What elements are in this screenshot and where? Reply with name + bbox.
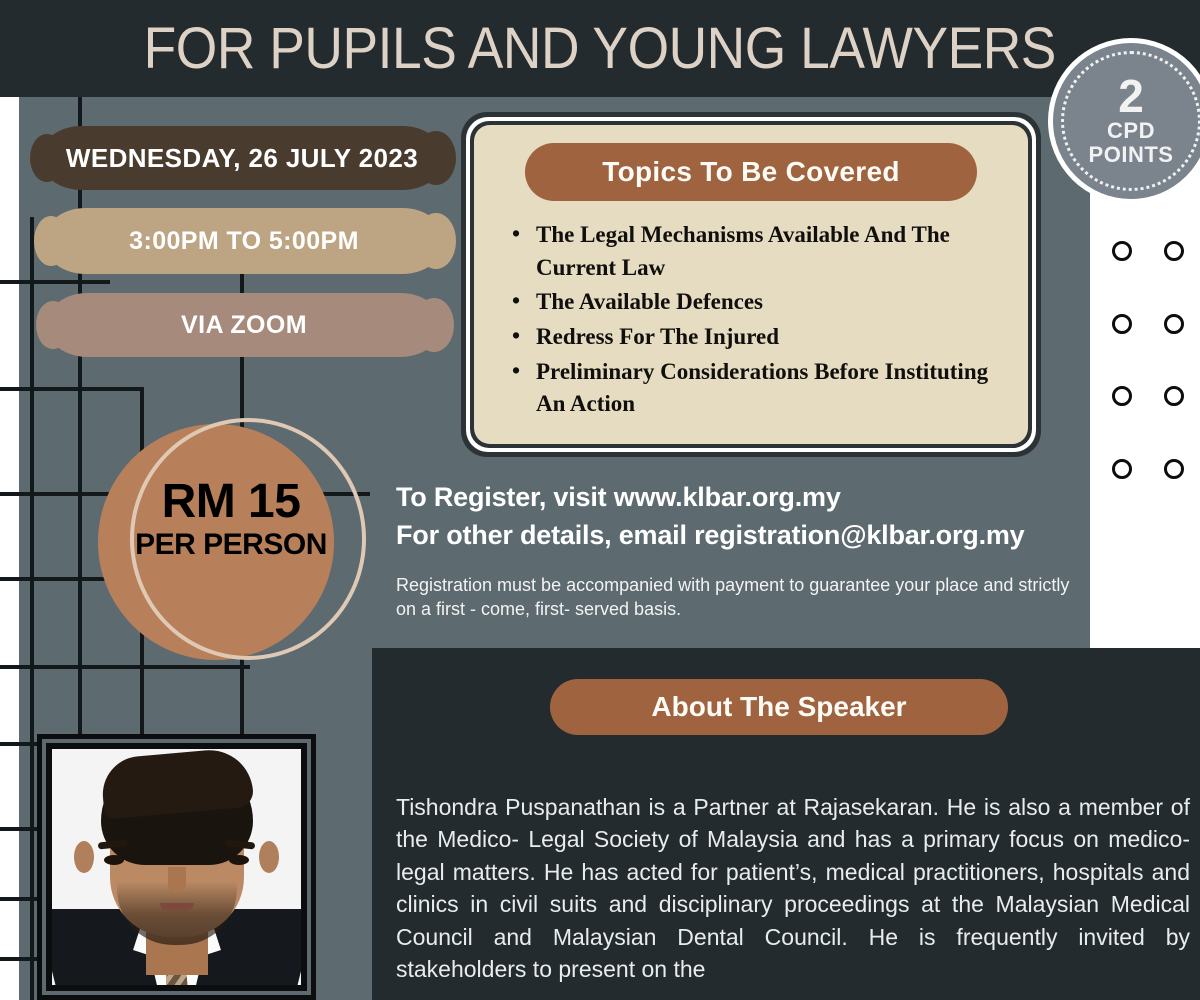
speaker-portrait-photo xyxy=(52,749,301,985)
price-amount: RM 15 xyxy=(116,478,346,526)
topics-heading: Topics To Be Covered xyxy=(525,143,977,201)
poster-header: FOR PUPILS AND YOUNG LAWYERS xyxy=(0,0,1200,97)
event-time-text: 3:00PM TO 5:00PM xyxy=(129,227,359,256)
cpd-label-line1: CPD xyxy=(1107,119,1155,143)
circle-dot-icon xyxy=(1112,459,1132,479)
cpd-label-line2: POINTS xyxy=(1089,143,1174,167)
topics-list: The Legal Mechanisms Available And The C… xyxy=(512,219,1008,421)
left-white-strip xyxy=(0,97,19,1000)
speaker-panel: About The Speaker Tishondra Puspanathan … xyxy=(372,648,1200,1000)
circle-dot-icon xyxy=(1112,314,1132,334)
topics-box-inner-dark: Topics To Be Covered The Legal Mechanism… xyxy=(470,121,1032,448)
cpd-points-badge: 2 CPD POINTS xyxy=(1053,43,1200,199)
poster-canvas: FOR PUPILS AND YOUNG LAWYERS 2 CPD POINT… xyxy=(0,0,1200,1000)
event-time-bar: 3:00PM TO 5:00PM xyxy=(46,208,442,274)
event-platform-text: VIA ZOOM xyxy=(181,311,307,340)
circle-dot-icon xyxy=(1164,241,1184,261)
price-text-group: RM 15 PER PERSON xyxy=(116,478,346,560)
topics-box-inner-white: Topics To Be Covered The Legal Mechanism… xyxy=(466,117,1036,452)
registration-note: Registration must be accompanied with pa… xyxy=(396,573,1086,623)
registration-website-line[interactable]: To Register, visit www.klbar.org.my xyxy=(396,478,1086,516)
list-item: Redress For The Injured xyxy=(512,321,1008,354)
event-date-bar: WEDNESDAY, 26 JULY 2023 xyxy=(42,126,442,190)
circle-dot-icon xyxy=(1112,241,1132,261)
event-date-text: WEDNESDAY, 26 JULY 2023 xyxy=(66,143,418,174)
topics-box: Topics To Be Covered The Legal Mechanism… xyxy=(461,112,1041,457)
speaker-bio-text: Tishondra Puspanathan is a Partner at Ra… xyxy=(396,791,1190,986)
list-item: The Available Defences xyxy=(512,286,1008,319)
speaker-photo-frame-inner xyxy=(46,743,307,991)
list-item: The Legal Mechanisms Available And The C… xyxy=(512,219,1008,284)
price-unit: PER PERSON xyxy=(116,530,346,560)
topics-box-body: Topics To Be Covered The Legal Mechanism… xyxy=(474,125,1028,444)
speaker-photo-frame xyxy=(37,734,316,1000)
registration-email-line[interactable]: For other details, email registration@kl… xyxy=(396,516,1086,554)
event-platform-bar: VIA ZOOM xyxy=(48,293,440,357)
circle-dot-icon xyxy=(1164,314,1184,334)
circle-dot-icon xyxy=(1164,459,1184,479)
circle-dot-icon xyxy=(1112,386,1132,406)
cpd-points-number: 2 xyxy=(1118,75,1144,119)
speaker-heading: About The Speaker xyxy=(550,679,1008,735)
price-badge: RM 15 PER PERSON xyxy=(98,418,366,668)
registration-block: To Register, visit www.klbar.org.my For … xyxy=(396,478,1086,622)
circle-dot-icon xyxy=(1164,386,1184,406)
list-item: Preliminary Considerations Before Instit… xyxy=(512,356,1008,421)
page-title: FOR PUPILS AND YOUNG LAWYERS xyxy=(144,20,1056,78)
speaker-photo-frame-gap xyxy=(42,739,311,995)
decorative-circle-grid xyxy=(1096,215,1200,505)
